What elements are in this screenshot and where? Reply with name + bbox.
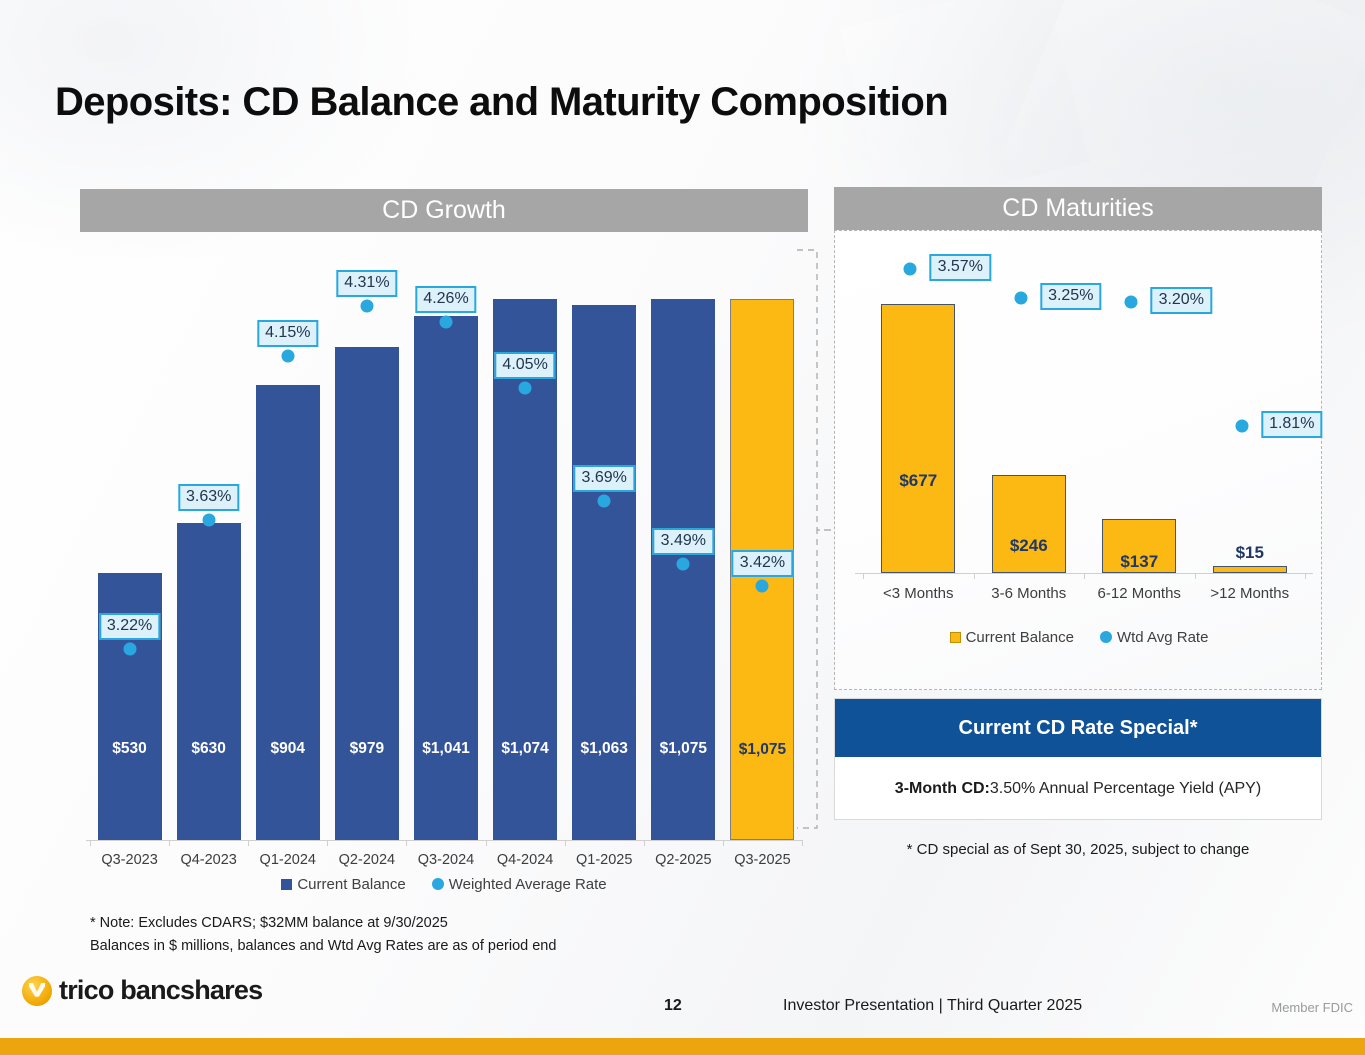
footer-accent-bar bbox=[0, 1038, 1365, 1055]
rate-value-label: 3.57% bbox=[930, 254, 991, 281]
growth-bar-value-label: $904 bbox=[256, 740, 320, 758]
rate-marker-dot bbox=[1125, 296, 1138, 309]
rate-value-label: 3.69% bbox=[574, 465, 635, 492]
x-axis-category-label: Q2-2024 bbox=[339, 852, 395, 868]
x-axis-category-label: Q3-2025 bbox=[734, 852, 790, 868]
cd-maturities-legend: Current Balance Wtd Avg Rate bbox=[835, 626, 1323, 648]
rate-marker-dot bbox=[281, 350, 294, 363]
maturity-bar-value-label: $246 bbox=[992, 536, 1066, 556]
trico-logo-icon bbox=[22, 976, 52, 1006]
legend-item-weighted-average-rate: Weighted Average Rate bbox=[432, 876, 607, 893]
cd-growth-legend: Current Balance Weighted Average Rate bbox=[80, 873, 808, 895]
growth-bar-value-label: $1,074 bbox=[493, 740, 557, 758]
rate-marker-dot bbox=[598, 494, 611, 507]
rate-marker-dot bbox=[202, 513, 215, 526]
legend-item-current-balance: Current Balance bbox=[950, 629, 1074, 646]
x-axis-category-label: 6-12 Months bbox=[1098, 585, 1181, 602]
legend-label: Current Balance bbox=[297, 876, 405, 893]
x-axis-tick bbox=[1195, 573, 1196, 579]
maturity-bar-value-label: $15 bbox=[1213, 543, 1287, 563]
x-axis-tick bbox=[486, 840, 487, 846]
x-axis-category-label: Q3-2023 bbox=[101, 852, 157, 868]
x-axis-tick bbox=[802, 840, 803, 846]
maturity-bar bbox=[1213, 566, 1287, 573]
square-swatch-icon bbox=[950, 632, 961, 643]
cd-maturities-chart: $6773.57%$2463.25%$1373.20%$151.81%<3 Mo… bbox=[835, 231, 1323, 613]
cd-maturities-panel-title: CD Maturities bbox=[834, 187, 1322, 230]
page-title: Deposits: CD Balance and Maturity Compos… bbox=[55, 80, 948, 125]
footnote-line-2: Balances in $ millions, balances and Wtd… bbox=[90, 938, 556, 954]
rate-marker-dot bbox=[677, 557, 690, 570]
rate-special-body: 3-Month CD: 3.50% Annual Percentage Yiel… bbox=[835, 757, 1321, 820]
x-axis-tick bbox=[327, 840, 328, 846]
rate-value-label: 3.25% bbox=[1040, 283, 1101, 310]
rate-marker-dot bbox=[904, 263, 917, 276]
rate-value-label: 3.49% bbox=[653, 528, 714, 555]
rate-value-label: 3.20% bbox=[1151, 287, 1212, 314]
rate-marker-dot bbox=[1014, 291, 1027, 304]
slide: Deposits: CD Balance and Maturity Compos… bbox=[0, 0, 1365, 1055]
growth-bar: $630 bbox=[177, 523, 241, 840]
rate-special-header: Current CD Rate Special* bbox=[835, 699, 1321, 757]
footnote-line-1: * Note: Excludes CDARS; $32MM balance at… bbox=[90, 915, 448, 931]
x-axis-category-label: Q3-2024 bbox=[418, 852, 474, 868]
rate-value-label: 3.42% bbox=[732, 550, 793, 577]
legend-item-current-balance: Current Balance bbox=[281, 876, 405, 893]
x-axis-tick bbox=[248, 840, 249, 846]
dot-swatch-icon bbox=[1100, 631, 1112, 643]
maturity-bar-value-label: $677 bbox=[881, 471, 955, 491]
current-cd-rate-special-card: Current CD Rate Special* 3-Month CD: 3.5… bbox=[834, 698, 1322, 820]
x-axis-category-label: 3-6 Months bbox=[991, 585, 1066, 602]
x-axis-category-label: Q1-2024 bbox=[260, 852, 316, 868]
rate-marker-dot bbox=[360, 300, 373, 313]
legend-label: Weighted Average Rate bbox=[449, 876, 607, 893]
x-axis-tick bbox=[974, 573, 975, 579]
cd-maturities-panel: $6773.57%$2463.25%$1373.20%$151.81%<3 Mo… bbox=[834, 230, 1322, 690]
rate-marker-dot bbox=[756, 579, 769, 592]
member-fdic-text: Member FDIC bbox=[1271, 1000, 1353, 1015]
maturity-bar bbox=[881, 304, 955, 573]
page-number: 12 bbox=[664, 997, 682, 1015]
x-axis-tick bbox=[644, 840, 645, 846]
cd-special-footnote: * CD special as of Sept 30, 2025, subjec… bbox=[834, 841, 1322, 858]
legend-label: Wtd Avg Rate bbox=[1117, 629, 1208, 646]
x-axis-tick bbox=[1084, 573, 1085, 579]
x-axis-tick bbox=[90, 840, 91, 846]
x-axis-line bbox=[86, 840, 802, 841]
x-axis-tick bbox=[723, 840, 724, 846]
growth-bar: $979 bbox=[335, 347, 399, 840]
growth-bar-value-label: $1,075 bbox=[731, 741, 793, 759]
x-axis-tick bbox=[1305, 573, 1306, 579]
rate-marker-dot bbox=[123, 642, 136, 655]
x-axis-category-label: <3 Months bbox=[883, 585, 953, 602]
rate-marker-dot bbox=[519, 381, 532, 394]
rate-marker-dot bbox=[440, 315, 453, 328]
growth-bar-value-label: $1,075 bbox=[651, 740, 715, 758]
x-axis-category-label: Q2-2025 bbox=[655, 852, 711, 868]
rate-marker-dot bbox=[1235, 419, 1248, 432]
maturity-bar bbox=[992, 475, 1066, 573]
rate-value-label: 4.26% bbox=[415, 286, 476, 313]
rate-value-label: 4.15% bbox=[257, 320, 318, 347]
x-axis-tick bbox=[565, 840, 566, 846]
cd-growth-panel-title: CD Growth bbox=[80, 189, 808, 232]
company-logo: trico bancshares bbox=[22, 975, 262, 1006]
rate-value-label: 4.31% bbox=[336, 270, 397, 297]
rate-value-label: 1.81% bbox=[1261, 411, 1322, 438]
growth-bar-value-label: $530 bbox=[98, 740, 162, 758]
growth-bar: $904 bbox=[256, 385, 320, 840]
growth-bar: $1,063 bbox=[572, 305, 636, 840]
legend-label: Current Balance bbox=[966, 629, 1074, 646]
x-axis-category-label: >12 Months bbox=[1210, 585, 1289, 602]
logo-wordmark: trico bancshares bbox=[59, 975, 262, 1006]
x-axis-category-label: Q1-2025 bbox=[576, 852, 632, 868]
rate-value-label: 3.63% bbox=[178, 484, 239, 511]
cd-growth-chart: $5303.22%$6303.63%$9044.15%$9794.31%$1,0… bbox=[80, 232, 808, 846]
dot-swatch-icon bbox=[432, 878, 444, 890]
growth-bar: $1,041 bbox=[414, 316, 478, 840]
x-axis-tick bbox=[406, 840, 407, 846]
growth-bar-value-label: $1,041 bbox=[414, 740, 478, 758]
growth-bar-value-label: $630 bbox=[177, 740, 241, 758]
x-axis-category-label: Q4-2023 bbox=[180, 852, 236, 868]
legend-item-wtd-avg-rate: Wtd Avg Rate bbox=[1100, 629, 1208, 646]
x-axis-tick bbox=[169, 840, 170, 846]
rate-special-apy: 3.50% Annual Percentage Yield (APY) bbox=[990, 780, 1261, 798]
rate-special-term: 3-Month CD: bbox=[895, 780, 990, 798]
x-axis-category-label: Q4-2024 bbox=[497, 852, 553, 868]
footer-caption: Investor Presentation | Third Quarter 20… bbox=[783, 997, 1082, 1015]
square-swatch-icon bbox=[281, 879, 292, 890]
growth-bar-value-label: $979 bbox=[335, 740, 399, 758]
maturity-bar-value-label: $137 bbox=[1102, 552, 1176, 572]
x-axis-tick bbox=[863, 573, 864, 579]
rate-value-label: 3.22% bbox=[99, 613, 160, 640]
rate-value-label: 4.05% bbox=[494, 352, 555, 379]
growth-bar-value-label: $1,063 bbox=[572, 740, 636, 758]
